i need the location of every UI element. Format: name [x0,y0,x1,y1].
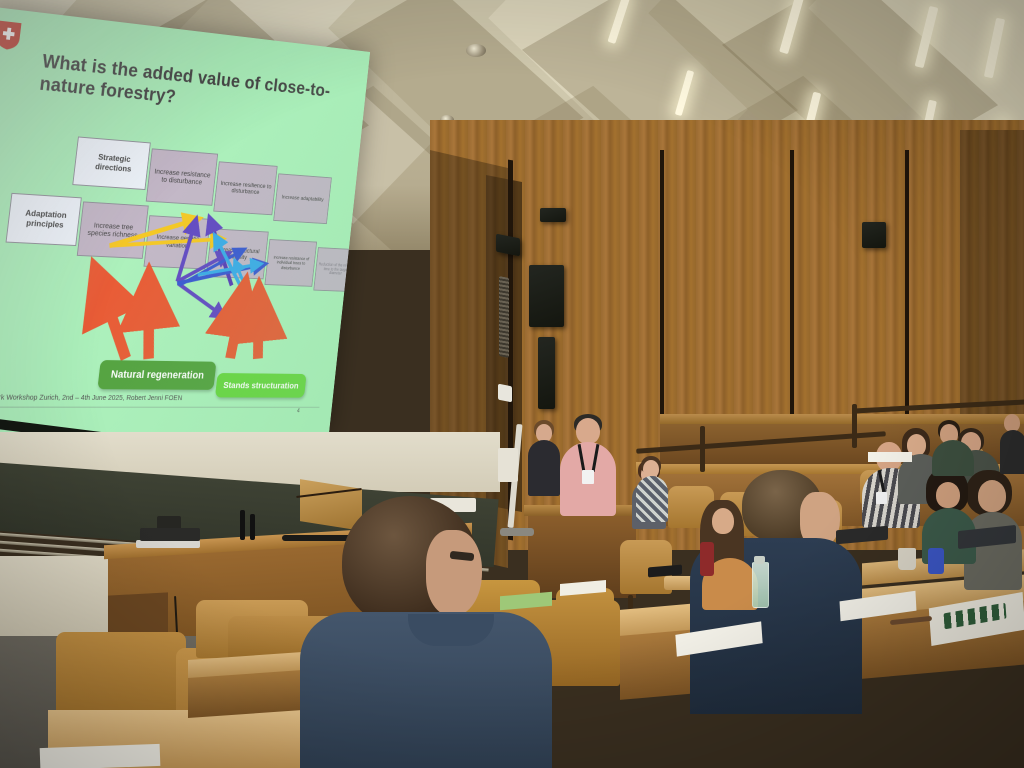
wall-wood-far-right [960,130,1024,460]
badge [876,492,887,504]
flipchart-board [498,448,518,482]
head [712,508,734,534]
projection-screen: What is the added value of close-to-natu… [0,6,370,439]
water-bottle [928,548,944,574]
bottle-cap [754,556,765,564]
ceiling-spotlight [466,44,486,57]
slide-footer: Integrate Network Workshop Zurich, 2nd –… [0,392,316,402]
presentation-slide: What is the added value of close-to-natu… [0,6,370,439]
wall-socket-panel [498,384,512,403]
presenter-badge [582,470,594,484]
lecture-hall-photo: What is the added value of close-to-natu… [0,0,1024,768]
papers-on-desk [40,744,161,768]
head [978,480,1006,512]
slide-footer-rule [0,407,319,408]
thermos [700,542,714,576]
wall-loudspeaker-column [538,337,555,409]
head [936,482,960,508]
microphone [250,514,255,540]
torso [528,440,560,496]
top [932,440,974,476]
coffee-cup [898,548,916,570]
audience-member [932,420,976,476]
top [1000,430,1024,474]
plaid-top [636,476,668,522]
audience-member [1000,414,1024,474]
water-bottle [752,562,769,608]
head [426,530,482,616]
document-camera-base [136,540,200,548]
av-control-panel [140,528,200,541]
audience-member-foreground [300,496,560,768]
wall-grille [499,276,509,358]
callout-natural-regeneration: Natural regeneration [97,360,216,390]
projector-mount [540,208,566,222]
tier-handrail-post [700,426,705,472]
collar [408,614,494,646]
wall-loudspeaker-main [529,265,564,327]
wall-loudspeaker-right [862,222,886,248]
presenter-head [576,418,600,444]
audience-member [636,456,672,524]
microphone [240,510,245,540]
papers-on-desk [868,452,912,462]
